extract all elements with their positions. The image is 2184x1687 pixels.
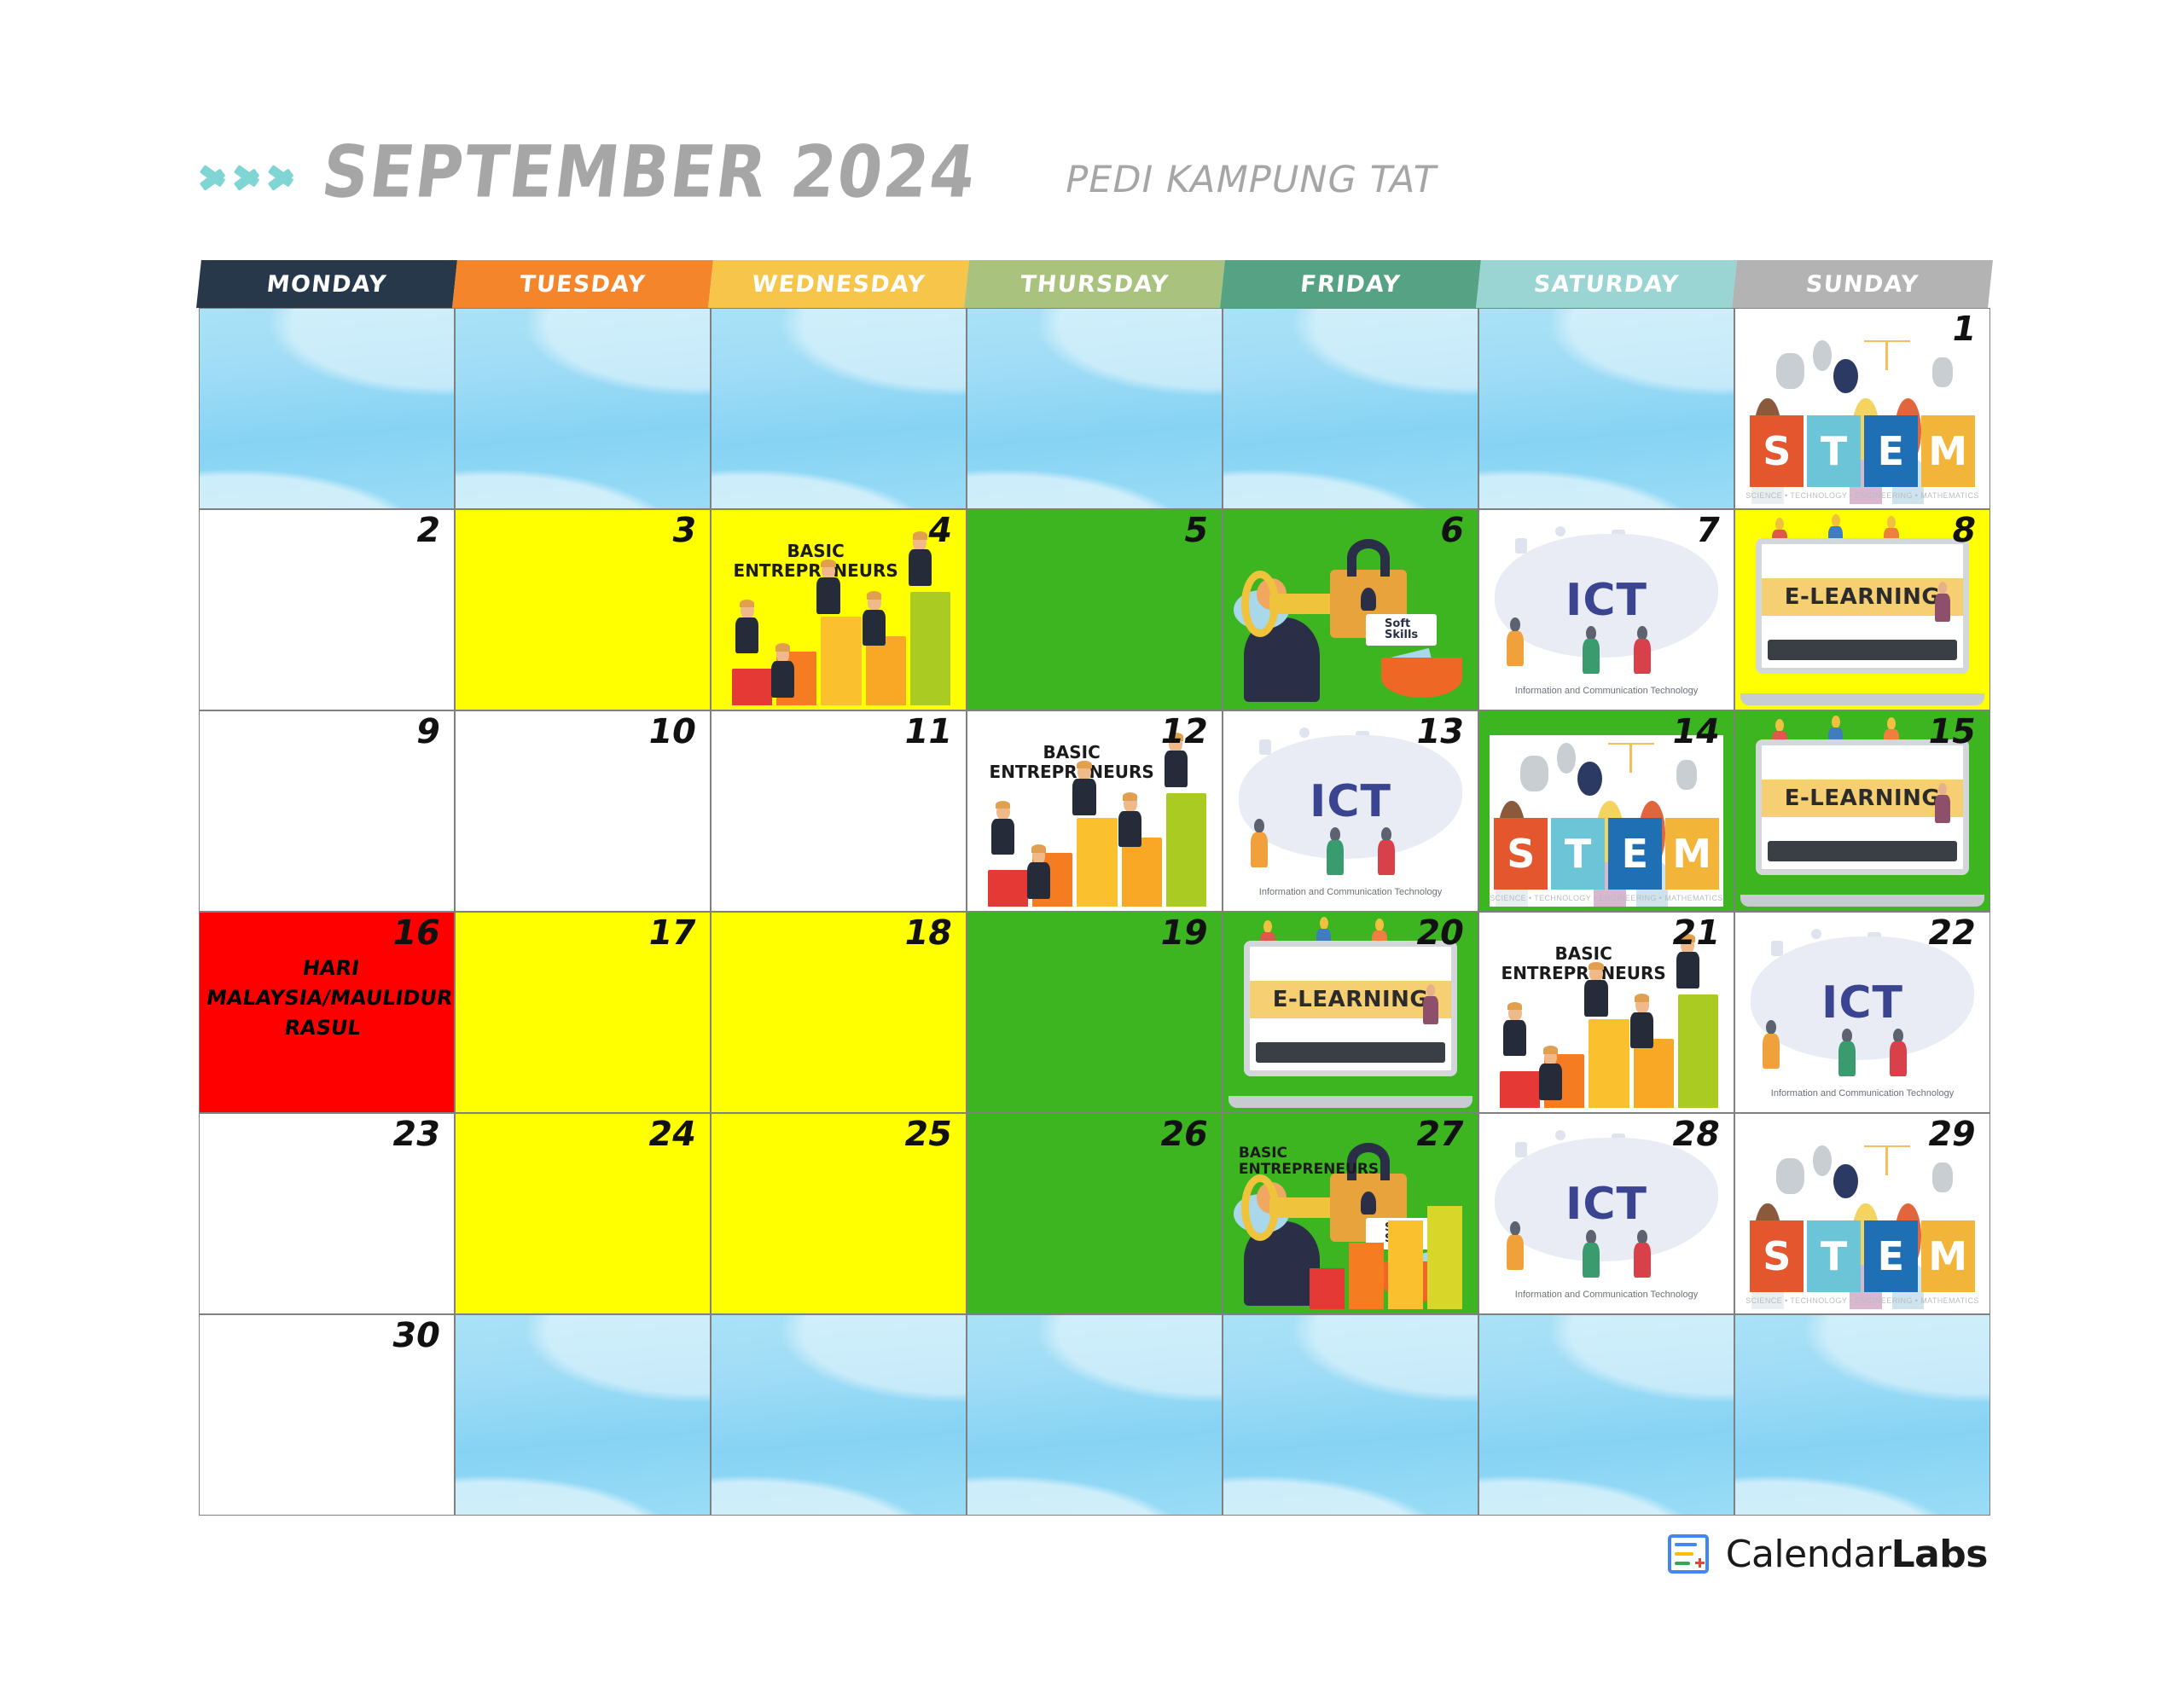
stem-letter-block: T [1807,415,1861,488]
weekday-header-thursday: THURSDAY [964,260,1225,308]
calendar-grid: MONDAYTUESDAYWEDNESDAYTHURSDAYFRIDAYSATU… [199,260,1990,1516]
day-cell-empty[interactable] [1223,308,1478,509]
stem-letter-block: M [1921,415,1975,488]
stem-letter-block: S [1750,415,1804,488]
day-number: 29 [1926,1117,1979,1151]
stem-letters: STEM [1750,415,1974,488]
stem-letter-block: S [1750,1220,1804,1293]
day-number: 24 [646,1117,700,1151]
day-number: 19 [1158,916,1211,950]
day-cell-10[interactable]: 10 [455,710,711,912]
stem-letter-block: E [1864,1220,1918,1293]
day-cell-empty[interactable] [967,308,1223,509]
chevrons-icon [199,155,296,201]
day-cell-28[interactable]: ICTInformation and Communication Technol… [1478,1113,1734,1314]
day-cell-18[interactable]: 18 [711,912,967,1113]
softskills-label: SoftSkills [1366,614,1437,646]
day-number: 10 [646,715,700,749]
entrepreneur-bar [1678,994,1718,1108]
softskills-overlay-caption: BASICENTREPRENEURS [1239,1145,1379,1177]
entrepreneur-bar [1634,1039,1674,1108]
day-cell-2[interactable]: 2 [199,509,455,710]
stem-letters: STEM [1750,1220,1974,1293]
stem-letters: STEM [1494,818,1718,890]
weekday-header-sunday: SUNDAY [1732,260,1993,308]
day-number: 30 [390,1319,444,1353]
ict-caption: Information and Communication Technology [1484,1290,1728,1300]
day-cell-6[interactable]: SoftSkills6 [1223,509,1478,710]
day-cell-empty[interactable] [1223,1314,1478,1516]
entrepreneur-bar [1077,818,1117,907]
entrepreneur-bar [910,592,950,705]
stem-letter-block: E [1864,415,1918,488]
weekday-header-wednesday: WEDNESDAY [708,260,969,308]
calendar-subtitle: PEDI KAMPUNG TAT [1061,159,1440,201]
day-cell-empty[interactable] [455,1314,711,1516]
stem-letter-block: M [1665,818,1719,890]
day-cell-19[interactable]: 19 [967,912,1223,1113]
day-cell-22[interactable]: ICTInformation and Communication Technol… [1734,912,1990,1113]
ict-word: ICT [1223,780,1478,824]
day-number: 26 [1158,1117,1211,1151]
day-cell-13[interactable]: ICTInformation and Communication Technol… [1223,710,1478,912]
day-number: 28 [1670,1117,1723,1151]
day-number: 14 [1670,715,1723,749]
day-number: 13 [1414,715,1467,749]
day-number: 25 [902,1117,955,1151]
day-cell-empty[interactable] [967,1314,1223,1516]
day-cell-8[interactable]: E-LEARNING8 [1734,509,1990,710]
day-number: 17 [646,916,700,950]
day-cell-1[interactable]: STEMSCIENCE • TECHNOLOGY • ENGINEERING •… [1734,308,1990,509]
stem-letter-block: T [1807,1220,1861,1293]
entrepreneur-bar [866,636,906,705]
weekday-header-friday: FRIDAY [1220,260,1481,308]
day-cell-empty[interactable] [711,308,967,509]
day-number: 18 [902,916,955,950]
holiday-label: HARI MALAYSIA/MAULIDUR RASUL [199,954,455,1042]
day-number: 16 [390,916,444,950]
day-cell-17[interactable]: 17 [455,912,711,1113]
ict-caption: Information and Communication Technology [1740,1088,1984,1099]
weekday-header-saturday: SATURDAY [1476,260,1737,308]
calendar-page: SEPTEMBER 2024 PEDI KAMPUNG TAT MONDAYTU… [0,0,2184,1687]
stem-caption: SCIENCE • TECHNOLOGY • ENGINEERING • MAT… [1494,891,1718,905]
calendarlabs-wordmark: CalendarLabs [1726,1533,1988,1576]
ict-caption: Information and Communication Technology [1228,887,1472,897]
calendar-book-icon [1666,1531,1712,1577]
day-number: 12 [1158,715,1211,749]
day-cell-24[interactable]: 24 [455,1113,711,1314]
stem-caption: SCIENCE • TECHNOLOGY • ENGINEERING • MAT… [1750,1294,1974,1307]
ict-word: ICT [1735,981,1989,1025]
day-cell-16[interactable]: 16HARI MALAYSIA/MAULIDUR RASUL [199,912,455,1113]
day-cell-4[interactable]: BASICENTREPRENEURS4 [711,509,967,710]
day-cell-29[interactable]: STEMSCIENCE • TECHNOLOGY • ENGINEERING •… [1734,1113,1990,1314]
day-number: 11 [902,715,955,749]
day-number: 23 [390,1117,444,1151]
stem-letter-block: T [1551,818,1605,890]
day-cell-23[interactable]: 23 [199,1113,455,1314]
brand-light: Calendar [1726,1533,1891,1576]
stem-letter-block: M [1921,1220,1975,1293]
ict-word: ICT [1479,578,1734,623]
day-number: 21 [1670,916,1723,950]
day-cell-empty[interactable] [1478,308,1734,509]
day-number: 5 [1182,513,1211,548]
day-cell-20[interactable]: E-LEARNING20 [1223,912,1478,1113]
day-cell-9[interactable]: 9 [199,710,455,912]
day-cell-7[interactable]: ICTInformation and Communication Technol… [1478,509,1734,710]
brand-bold: Labs [1891,1533,1988,1576]
day-cell-12[interactable]: BASICENTREPRENEURS12 [967,710,1223,912]
entrepreneur-bar [1500,1071,1540,1109]
entrepreneur-bar [1166,793,1206,907]
stem-letter-block: E [1608,818,1662,890]
weekday-header-monday: MONDAY [196,260,457,308]
day-cell-25[interactable]: 25 [711,1113,967,1314]
day-number: 20 [1414,916,1467,950]
day-number: 27 [1414,1117,1467,1151]
day-cell-5[interactable]: 5 [967,509,1223,710]
entrepreneur-bar [1589,1019,1629,1108]
day-cell-empty[interactable] [455,308,711,509]
day-number: 3 [670,513,700,548]
day-cell-27[interactable]: BASICENTREPRENEURSSoftSkills27 [1223,1113,1478,1314]
day-cell-11[interactable]: 11 [711,710,967,912]
day-cell-empty[interactable] [1478,1314,1734,1516]
footer-branding: CalendarLabs [1666,1531,1988,1577]
stem-letter-block: S [1494,818,1548,890]
page-title: SEPTEMBER 2024 [318,136,981,208]
entrepreneur-bar [732,669,772,706]
day-cell-empty[interactable] [199,308,455,509]
day-cell-15[interactable]: E-LEARNING15 [1734,710,1990,912]
stem-caption: SCIENCE • TECHNOLOGY • ENGINEERING • MAT… [1750,489,1974,502]
softskills-overlay-bars [1310,1206,1462,1310]
day-cell-30[interactable]: 30 [199,1314,455,1516]
day-cell-26[interactable]: 26 [967,1113,1223,1314]
weekday-header-tuesday: TUESDAY [452,260,713,308]
day-number: 2 [414,513,444,548]
day-cell-empty[interactable] [1734,1314,1990,1516]
ict-caption: Information and Communication Technology [1484,686,1728,696]
day-cell-14[interactable]: STEMSCIENCE • TECHNOLOGY • ENGINEERING •… [1478,710,1734,912]
day-number: 15 [1926,715,1979,749]
calendar-header: SEPTEMBER 2024 PEDI KAMPUNG TAT [199,119,1990,213]
day-cell-21[interactable]: BASICENTREPRENEURS21 [1478,912,1734,1113]
day-cell-empty[interactable] [711,1314,967,1516]
entrepreneur-bar [1122,838,1162,907]
day-number: 22 [1926,916,1979,950]
day-number: 9 [414,715,444,749]
ict-word: ICT [1479,1182,1734,1226]
day-cell-3[interactable]: 3 [455,509,711,710]
entrepreneur-bar [821,617,861,705]
entrepreneur-bar [988,870,1028,907]
